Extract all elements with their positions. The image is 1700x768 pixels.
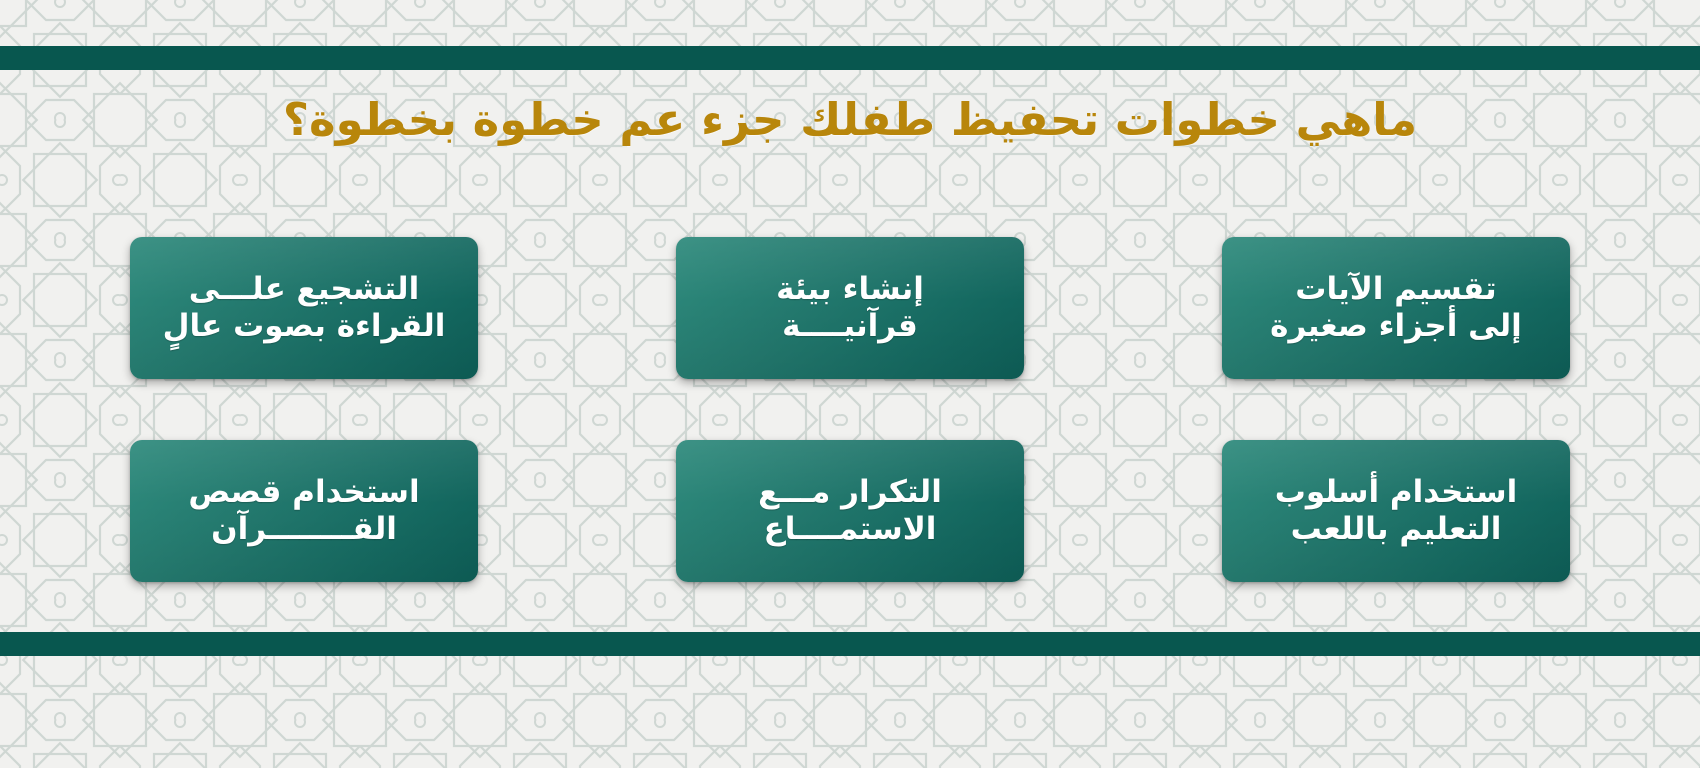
page-title: ماهي خطوات تحفيظ طفلك جزء عم خطوة بخطوة؟: [283, 92, 1417, 148]
step-card-3[interactable]: التشجيع علـــى القراءة بصوت عالٍ: [130, 237, 478, 379]
step-card-4-text: استخدام أسلوب التعليم باللعب: [1236, 474, 1556, 548]
step-card-6[interactable]: استخدام قصص القــــــــرآن: [130, 440, 478, 582]
step-card-2-line-1: إنشاء بيئة: [690, 271, 1010, 308]
step-card-4-line-1: استخدام أسلوب: [1236, 474, 1556, 511]
step-card-3-line-1: التشجيع علـــى: [144, 271, 464, 308]
step-card-1-line-1: تقسيم الآيات: [1236, 271, 1556, 308]
step-card-5-line-1: التكرار مـــع: [690, 474, 1010, 511]
step-card-3-text: التشجيع علـــى القراءة بصوت عالٍ: [144, 271, 464, 345]
page-title-container: ماهي خطوات تحفيظ طفلك جزء عم خطوة بخطوة؟: [0, 92, 1700, 148]
step-card-2-text: إنشاء بيئة قرآنيــــة: [690, 271, 1010, 345]
step-card-4[interactable]: استخدام أسلوب التعليم باللعب: [1222, 440, 1570, 582]
top-teal-rule: [0, 46, 1700, 70]
step-card-6-line-1: استخدام قصص: [144, 474, 464, 511]
step-card-1-text: تقسيم الآيات إلى أجزاء صغيرة: [1236, 271, 1556, 345]
step-card-1-line-2: إلى أجزاء صغيرة: [1236, 308, 1556, 345]
infographic-canvas: ماهي خطوات تحفيظ طفلك جزء عم خطوة بخطوة؟…: [0, 0, 1700, 768]
step-card-6-text: استخدام قصص القــــــــرآن: [144, 474, 464, 548]
step-card-5-line-2: الاستمــــاع: [690, 511, 1010, 548]
step-card-5-text: التكرار مـــع الاستمــــاع: [690, 474, 1010, 548]
step-card-6-line-2: القــــــــرآن: [144, 511, 464, 548]
step-card-1[interactable]: تقسيم الآيات إلى أجزاء صغيرة: [1222, 237, 1570, 379]
step-card-4-line-2: التعليم باللعب: [1236, 511, 1556, 548]
step-card-2[interactable]: إنشاء بيئة قرآنيــــة: [676, 237, 1024, 379]
bottom-teal-rule: [0, 632, 1700, 656]
steps-card-grid: تقسيم الآيات إلى أجزاء صغيرة إنشاء بيئة …: [130, 237, 1570, 582]
step-card-5[interactable]: التكرار مـــع الاستمــــاع: [676, 440, 1024, 582]
step-card-3-line-2: القراءة بصوت عالٍ: [144, 308, 464, 345]
step-card-2-line-2: قرآنيــــة: [690, 308, 1010, 345]
